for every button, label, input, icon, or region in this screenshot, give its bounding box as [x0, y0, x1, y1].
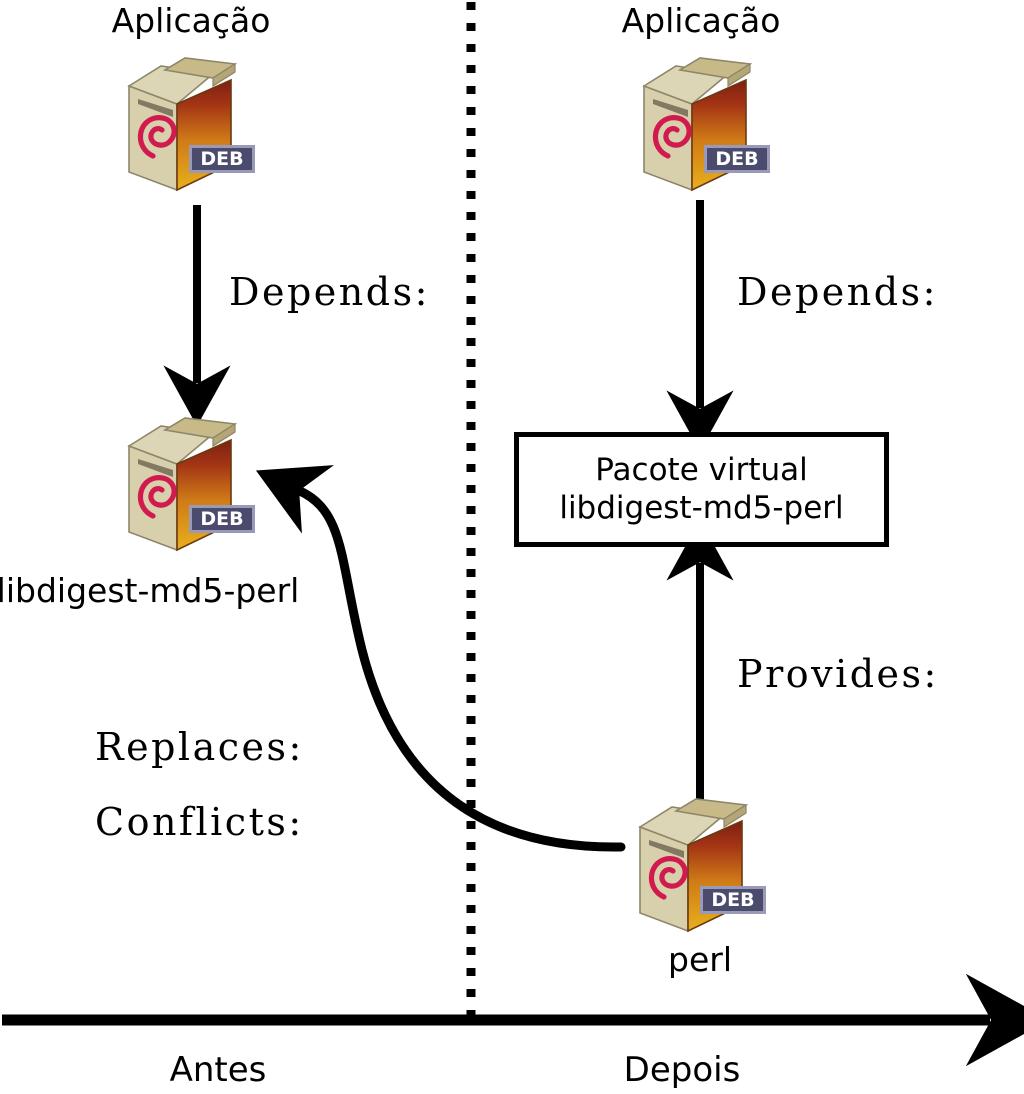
- title-app-right: Aplicação: [622, 4, 781, 37]
- deb-badge: DEB: [704, 145, 770, 173]
- label-depends-right: Depends:: [737, 273, 938, 311]
- package-icon-app-left: DEB: [113, 52, 265, 197]
- virtual-package-box: Pacote virtual libdigest-md5-perl: [514, 432, 889, 547]
- svg-text:DEB: DEB: [200, 148, 243, 170]
- caption-perl: perl: [668, 943, 732, 976]
- svg-text:DEB: DEB: [715, 148, 758, 170]
- deb-badge: DEB: [189, 145, 255, 173]
- virtual-package-line1: Pacote virtual: [595, 452, 808, 490]
- virtual-package-line2: libdigest-md5-perl: [559, 490, 843, 528]
- deb-badge: DEB: [700, 886, 766, 914]
- caption-libdigest: libdigest-md5-perl: [0, 574, 299, 607]
- label-conflicts: Conflicts:: [95, 803, 304, 841]
- package-icon-libdigest: DEB: [113, 412, 265, 557]
- timeline-label-after: Depois: [624, 1053, 741, 1087]
- label-depends-left: Depends:: [229, 273, 430, 311]
- svg-text:DEB: DEB: [711, 889, 754, 911]
- package-icon-app-right: DEB: [628, 52, 780, 197]
- diagram-canvas: DEB DEB: [0, 0, 1024, 1094]
- deb-badge: DEB: [189, 505, 255, 533]
- title-app-left: Aplicação: [112, 4, 271, 37]
- label-replaces: Replaces:: [95, 728, 304, 766]
- svg-text:DEB: DEB: [200, 508, 243, 530]
- label-provides: Provides:: [737, 655, 939, 693]
- timeline-label-before: Antes: [170, 1053, 267, 1087]
- package-icon-perl: DEB: [624, 793, 776, 938]
